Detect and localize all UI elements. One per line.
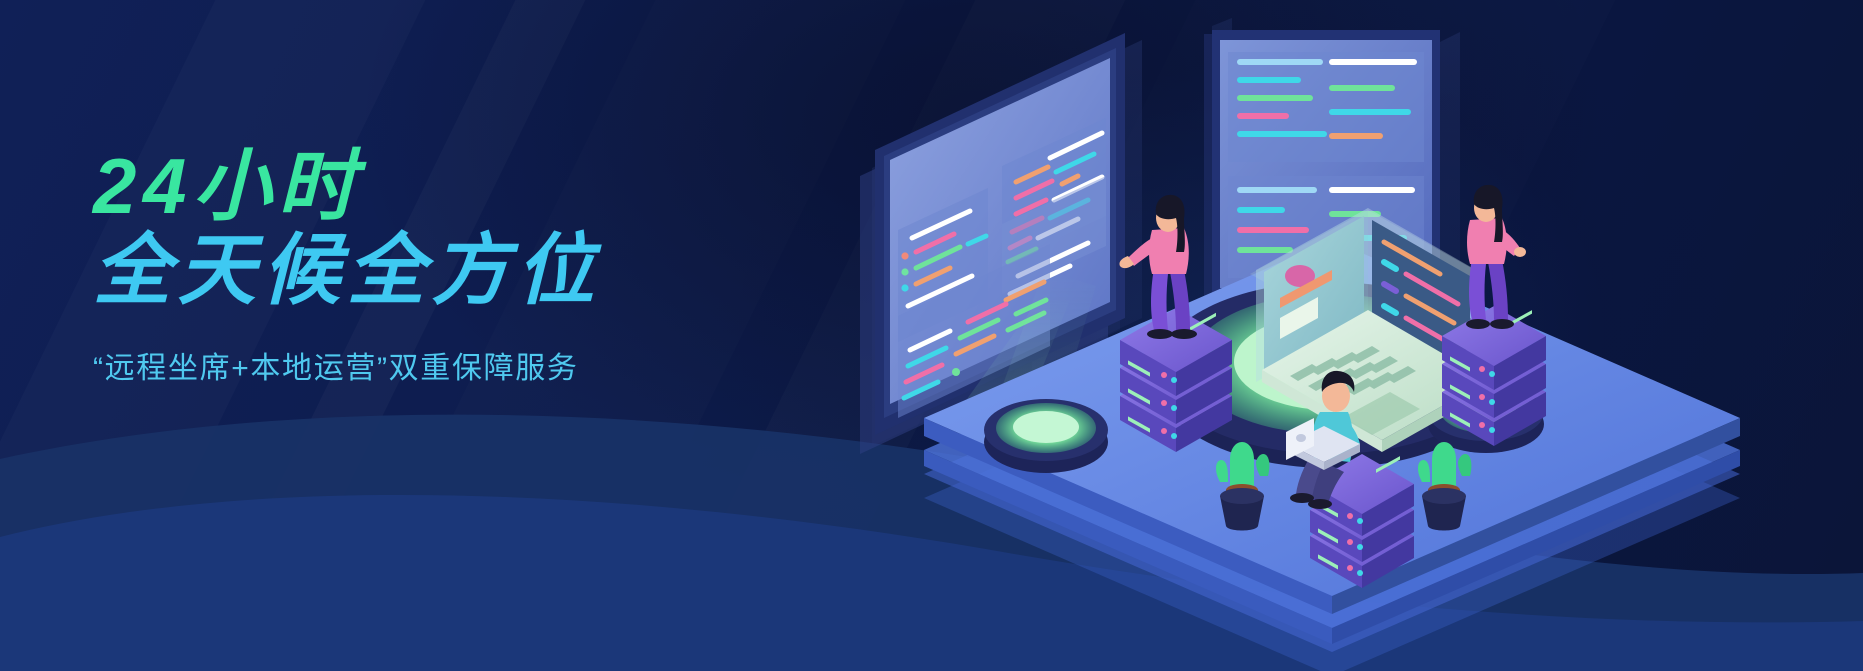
isometric-illustration bbox=[820, 0, 1863, 671]
subtitle: “远程坐席+本地运营”双重保障服务 bbox=[93, 343, 601, 387]
hero-text-block: 24小时 全天候全方位 “远程坐席+本地运营”双重保障服务 bbox=[93, 148, 601, 387]
person-right-standing bbox=[1466, 185, 1526, 329]
right-panel-top bbox=[1228, 52, 1424, 162]
headline: 24小时 全天候全方位 bbox=[93, 148, 601, 309]
promo-banner: 24小时 全天候全方位 “远程坐席+本地运营”双重保障服务 bbox=[0, 0, 1863, 671]
glow-ring-left bbox=[984, 399, 1108, 473]
headline-line-2: 全天候全方位 bbox=[93, 232, 601, 308]
headline-line-1: 24小时 bbox=[93, 148, 601, 224]
